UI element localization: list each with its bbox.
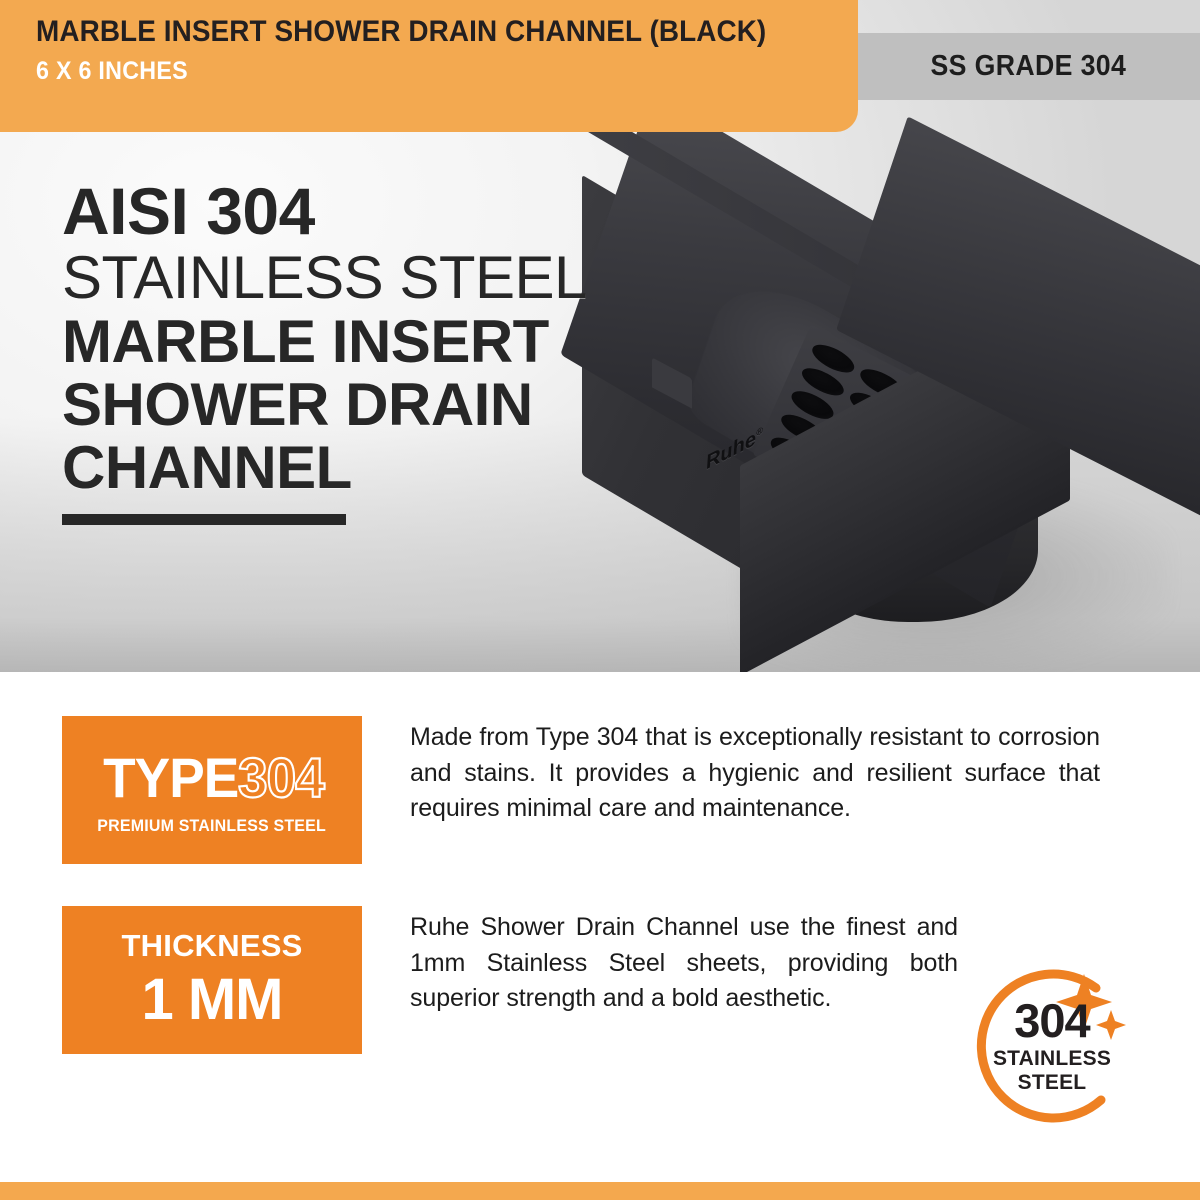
features-section: TYPE 304 PREMIUM STAINLESS STEEL Made fr… <box>0 672 1200 1152</box>
type-304-badge-row: TYPE 304 <box>96 745 329 810</box>
headline-line-1: AISI 304 <box>62 178 582 245</box>
product-image: Ruhe® <box>560 150 1200 670</box>
thickness-value: 1 MM <box>142 966 283 1033</box>
feature-text-block-2: Ruhe Shower Drain Channel use the finest… <box>410 906 958 1017</box>
feature-text-block-1: Made from Type 304 that is exceptionally… <box>410 716 1100 827</box>
headline-line-3: MARBLE INSERT <box>62 311 582 372</box>
registered-mark: ® <box>756 425 763 439</box>
product-title: MARBLE INSERT SHOWER DRAIN CHANNEL (BLAC… <box>36 14 800 49</box>
feature-row-type304: TYPE 304 PREMIUM STAINLESS STEEL Made fr… <box>62 716 1100 864</box>
type-304-caption: PREMIUM STAINLESS STEEL <box>98 816 327 836</box>
headline-line-5: CHANNEL <box>62 437 582 498</box>
footer-accent-bar <box>0 1182 1200 1200</box>
title-plate: MARBLE INSERT SHOWER DRAIN CHANNEL (BLAC… <box>0 0 858 132</box>
type-304-badge: TYPE 304 PREMIUM STAINLESS STEEL <box>62 716 362 864</box>
headline-underline-bar <box>62 514 346 525</box>
seal-line-1: STAINLESS <box>993 1047 1111 1071</box>
304-stainless-steel-seal: 304 STAINLESS STEEL <box>968 964 1136 1132</box>
thickness-label: THICKNESS <box>122 928 303 964</box>
ss-grade-strip: SS GRADE 304 <box>856 33 1200 100</box>
product-size: 6 X 6 INCHES <box>36 57 800 86</box>
thickness-badge: THICKNESS 1 MM <box>62 906 362 1054</box>
type-number: 304 <box>238 745 324 810</box>
headline-line-2: STAINLESS STEEL <box>62 247 582 308</box>
feature-paragraph-2: Ruhe Shower Drain Channel use the finest… <box>410 910 958 1017</box>
headline-line-4: SHOWER DRAIN <box>62 374 582 435</box>
feature-row-thickness: THICKNESS 1 MM Ruhe Shower Drain Channel… <box>62 906 958 1054</box>
seal-number: 304 <box>1014 998 1089 1043</box>
seal-line-2: STEEL <box>1018 1071 1087 1095</box>
hero-headline: AISI 304 STAINLESS STEEL MARBLE INSERT S… <box>62 178 582 525</box>
type-word: TYPE <box>103 745 238 810</box>
feature-paragraph-1: Made from Type 304 that is exceptionally… <box>410 720 1100 827</box>
seal-text-group: 304 STAINLESS STEEL <box>968 998 1136 1095</box>
ss-grade-label: SS GRADE 304 <box>930 50 1126 83</box>
hero-section: Ruhe® SS GRADE 304 MARBLE INSERT SHOWER … <box>0 0 1200 672</box>
